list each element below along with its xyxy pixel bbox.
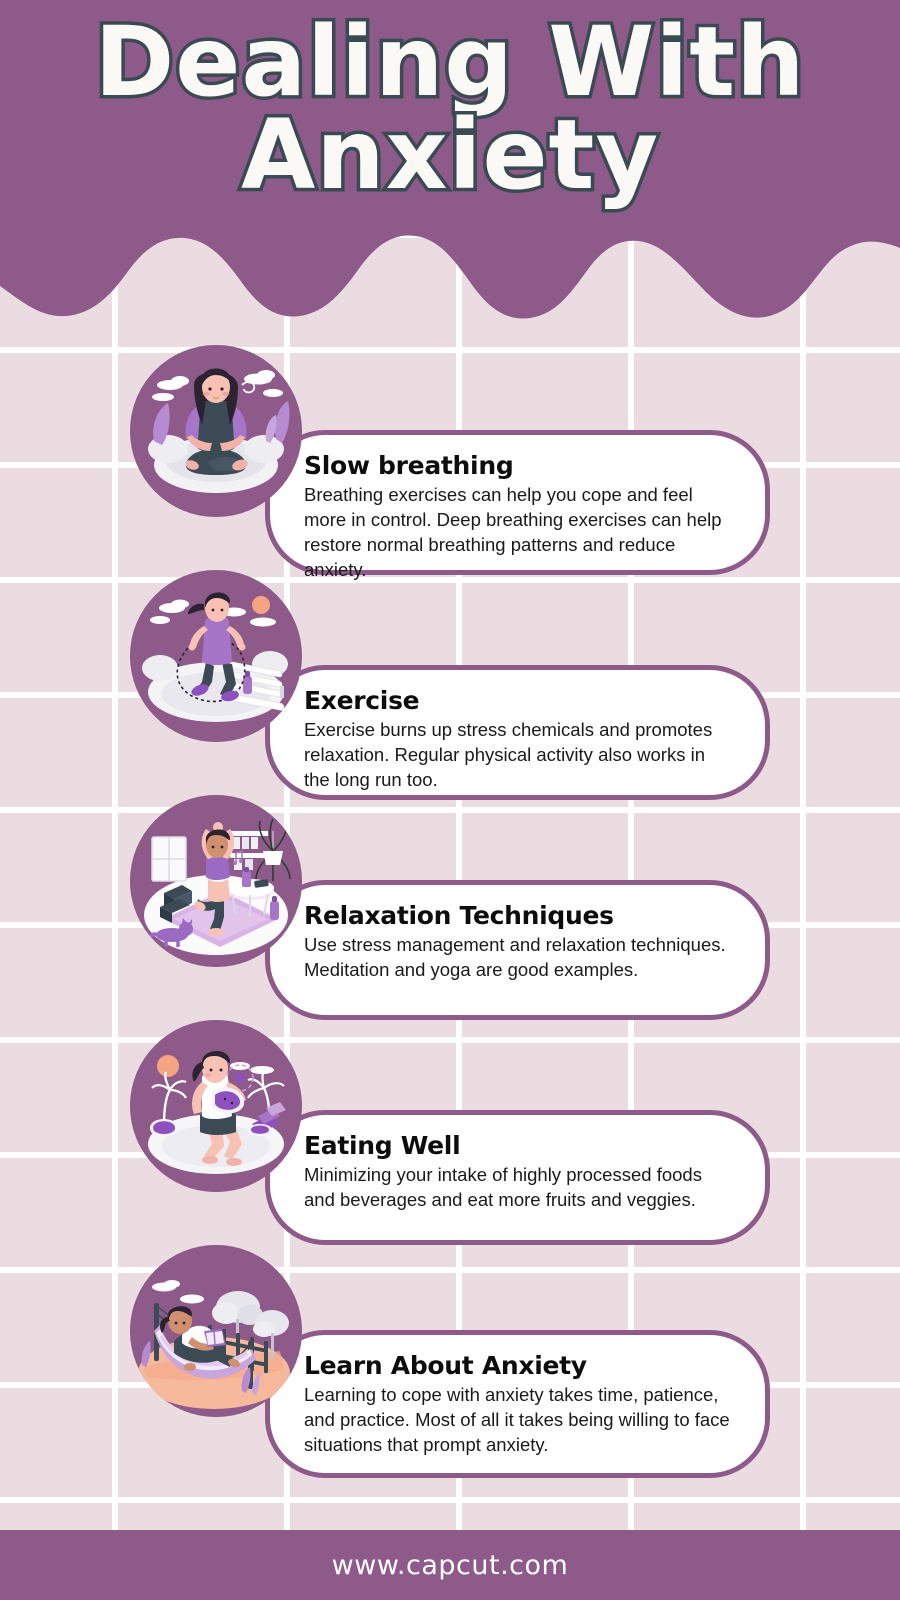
woman-meditating-lotus-pose-icon xyxy=(130,345,302,517)
tip-body: Breathing exercises can help you cope an… xyxy=(304,482,731,582)
tip-title: Slow breathing xyxy=(304,451,731,480)
tip-card-eating-well[interactable]: Eating Well Minimizing your intake of hi… xyxy=(265,1110,770,1245)
tip-card-learn-about-anxiety[interactable]: Learn About Anxiety Learning to cope wit… xyxy=(265,1330,770,1478)
illustration-circle-relaxation xyxy=(130,795,302,967)
woman-jumping-rope-park-icon xyxy=(130,570,302,742)
tip-card-slow-breathing[interactable]: Slow breathing Breathing exercises can h… xyxy=(265,430,770,575)
tip-body: Exercise burns up stress chemicals and p… xyxy=(304,717,731,792)
illustration-circle-exercise xyxy=(130,570,302,742)
tip-title: Relaxation Techniques xyxy=(304,901,731,930)
tip-body: Learning to cope with anxiety takes time… xyxy=(304,1382,731,1457)
woman-eating-watermelon-beach-icon xyxy=(130,1020,302,1192)
footer-url[interactable]: www.capcut.com xyxy=(332,1550,569,1581)
infographic-poster: Dealing With Anxiety xyxy=(0,0,900,1600)
tip-card-exercise[interactable]: Exercise Exercise burns up stress chemic… xyxy=(265,665,770,800)
woman-reading-book-hammock-icon xyxy=(130,1245,302,1417)
tip-body: Use stress management and relaxation tec… xyxy=(304,932,731,982)
poster-title: Dealing With Anxiety xyxy=(0,16,900,202)
tip-body: Minimizing your intake of highly process… xyxy=(304,1162,731,1212)
title-line-2: Anxiety xyxy=(0,109,900,202)
header-banner: Dealing With Anxiety xyxy=(0,0,900,330)
tip-card-relaxation[interactable]: Relaxation Techniques Use stress managem… xyxy=(265,880,770,1020)
footer-bar: www.capcut.com xyxy=(0,1530,900,1600)
illustration-circle-eating-well xyxy=(130,1020,302,1192)
illustration-circle-slow-breathing xyxy=(130,345,302,517)
woman-yoga-tree-pose-icon xyxy=(130,795,302,967)
tip-title: Exercise xyxy=(304,686,731,715)
tip-title: Eating Well xyxy=(304,1131,731,1160)
illustration-circle-learn-about-anxiety xyxy=(130,1245,302,1417)
tip-title: Learn About Anxiety xyxy=(304,1351,731,1380)
title-line-1: Dealing With xyxy=(0,16,900,109)
